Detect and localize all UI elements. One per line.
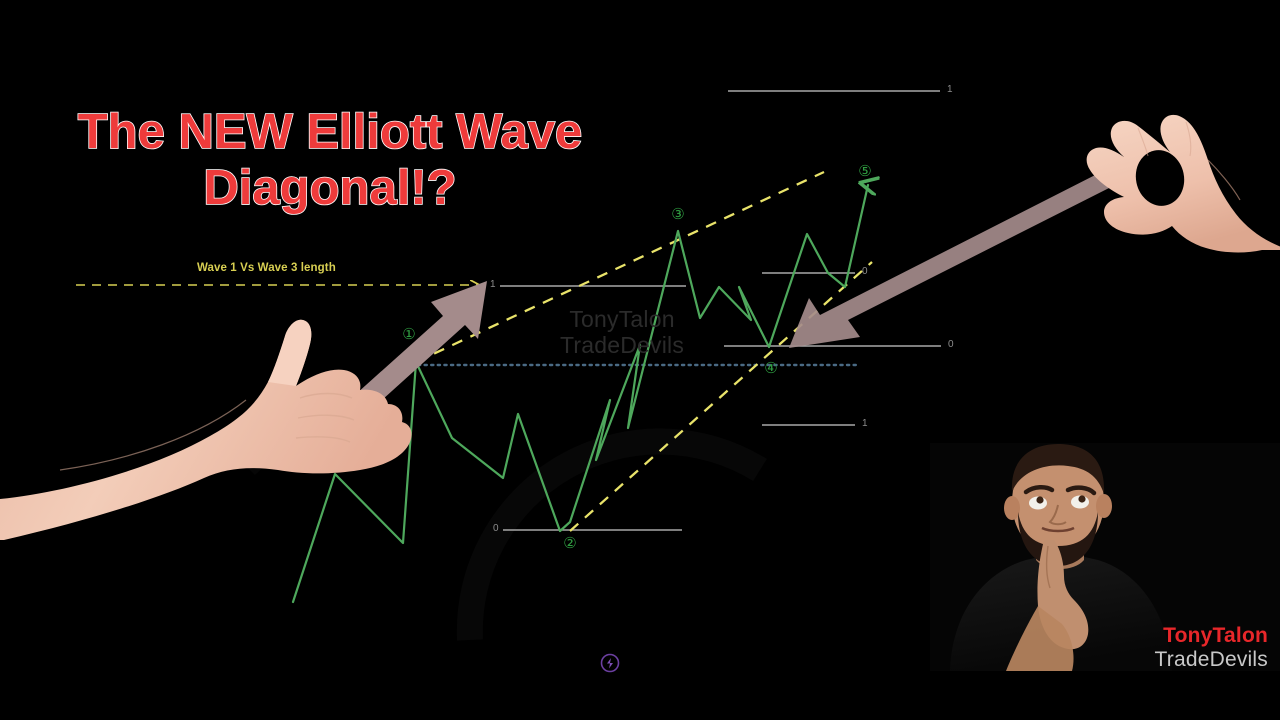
pointer-arrow-right — [789, 170, 1113, 348]
diagonal-trendline — [570, 262, 872, 531]
wave-label-2: ② — [563, 534, 576, 552]
price-level-label: 1 — [490, 279, 496, 290]
price-level-label: 0 — [948, 339, 954, 350]
corner-brand-line-1: TonyTalon — [1155, 624, 1268, 648]
wave-label-4: ④ — [764, 359, 777, 377]
title-line-2: Diagonal!? — [203, 161, 456, 215]
price-level-label: 0 — [493, 523, 499, 534]
wave-label-5: ⑤ — [858, 162, 871, 180]
center-watermark-line-1: TonyTalon — [569, 306, 674, 332]
page-title: The NEW Elliott WaveDiagonal!? — [60, 104, 600, 216]
price-level-label: 0 — [862, 266, 868, 277]
corner-brand-line-2: TradeDevils — [1155, 648, 1268, 672]
title-line-1: The NEW Elliott Wave — [78, 105, 583, 159]
price-level-label: 1 — [947, 84, 953, 95]
center-watermark: TonyTalonTradeDevils — [560, 306, 684, 358]
thumbs-up-hand — [0, 320, 412, 540]
bolt-badge-icon[interactable] — [602, 655, 619, 672]
wave-label-1: ① — [402, 325, 415, 343]
video-thumbnail-canvas: ①②③④⑤ — [0, 0, 1280, 720]
ok-hand — [1087, 115, 1280, 253]
price-level-label: 1 — [862, 418, 868, 429]
wave-length-annotation: Wave 1 Vs Wave 3 length — [197, 262, 336, 274]
center-watermark-line-2: TradeDevils — [560, 332, 684, 358]
corner-brand: TonyTalon TradeDevils — [1155, 624, 1268, 672]
wave-label-3: ③ — [671, 205, 684, 223]
